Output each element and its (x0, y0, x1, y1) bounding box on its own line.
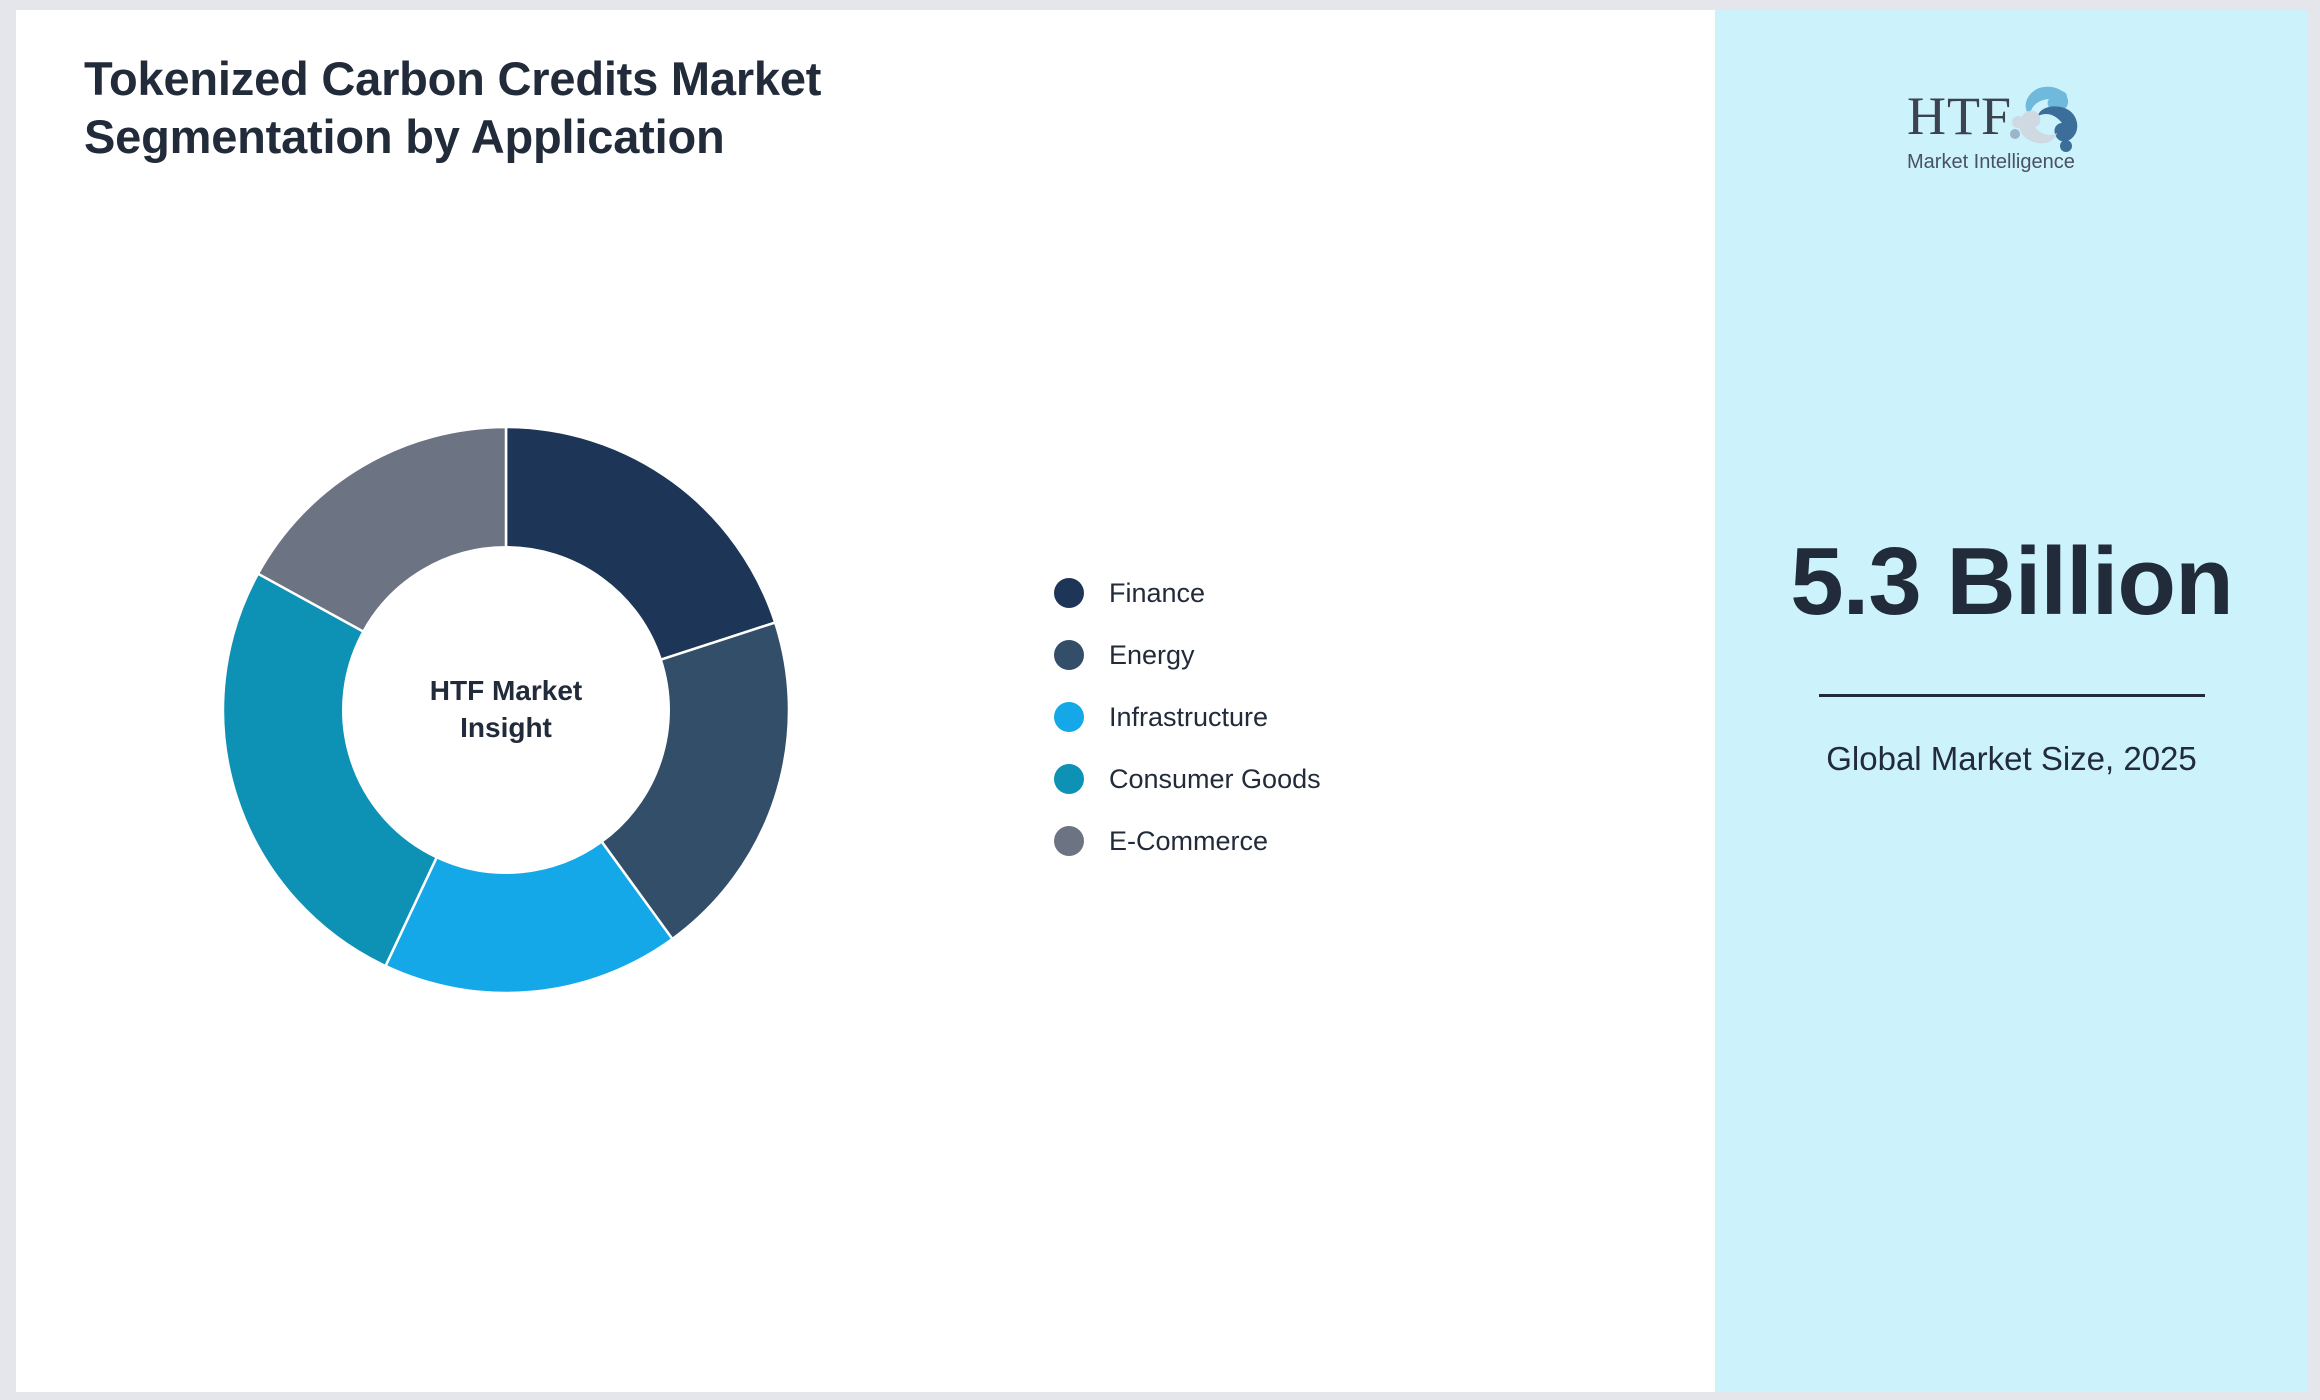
legend-swatch-icon (1054, 826, 1084, 856)
svg-text:Market Intelligence: Market Intelligence (1907, 151, 2075, 173)
legend-swatch-icon (1054, 702, 1084, 732)
market-size-stat: 5.3 Billion Global Market Size, 2025 (1715, 530, 2308, 780)
legend-item[interactable]: Consumer Goods (1054, 748, 1321, 810)
htf-market-intelligence-logo: HTF Market Intelligence (1897, 78, 2127, 178)
legend-item[interactable]: Energy (1054, 624, 1321, 686)
legend-item-label: Finance (1109, 578, 1205, 609)
svg-text:HTF: HTF (1907, 86, 2012, 146)
summary-panel: HTF Market Intelligence 5.3 Billion Glob… (1715, 10, 2308, 1392)
legend-swatch-icon (1054, 578, 1084, 608)
stat-value: 5.3 Billion (1755, 530, 2268, 634)
stat-divider (1819, 694, 2205, 697)
donut-chart-svg (206, 410, 806, 1010)
stat-caption: Global Market Size, 2025 (1755, 737, 2268, 781)
donut-slice[interactable] (223, 574, 437, 966)
legend-item[interactable]: E-Commerce (1054, 810, 1321, 872)
legend-item-label: Energy (1109, 640, 1195, 671)
chart-legend: FinanceEnergyInfrastructureConsumer Good… (1054, 562, 1321, 872)
legend-item[interactable]: Finance (1054, 562, 1321, 624)
legend-item[interactable]: Infrastructure (1054, 686, 1321, 748)
chart-panel: Tokenized Carbon Credits Market Segmenta… (16, 10, 1715, 1392)
infographic-canvas: Tokenized Carbon Credits Market Segmenta… (16, 10, 2308, 1392)
donut-chart: HTF Market Insight (206, 410, 806, 1010)
legend-swatch-icon (1054, 764, 1084, 794)
legend-item-label: Infrastructure (1109, 702, 1268, 733)
legend-item-label: Consumer Goods (1109, 764, 1321, 795)
donut-slice[interactable] (506, 427, 775, 660)
legend-item-label: E-Commerce (1109, 826, 1268, 857)
page-title: Tokenized Carbon Credits Market Segmenta… (84, 50, 1124, 166)
legend-swatch-icon (1054, 640, 1084, 670)
logo-icon: HTF Market Intelligence (1897, 78, 2127, 178)
